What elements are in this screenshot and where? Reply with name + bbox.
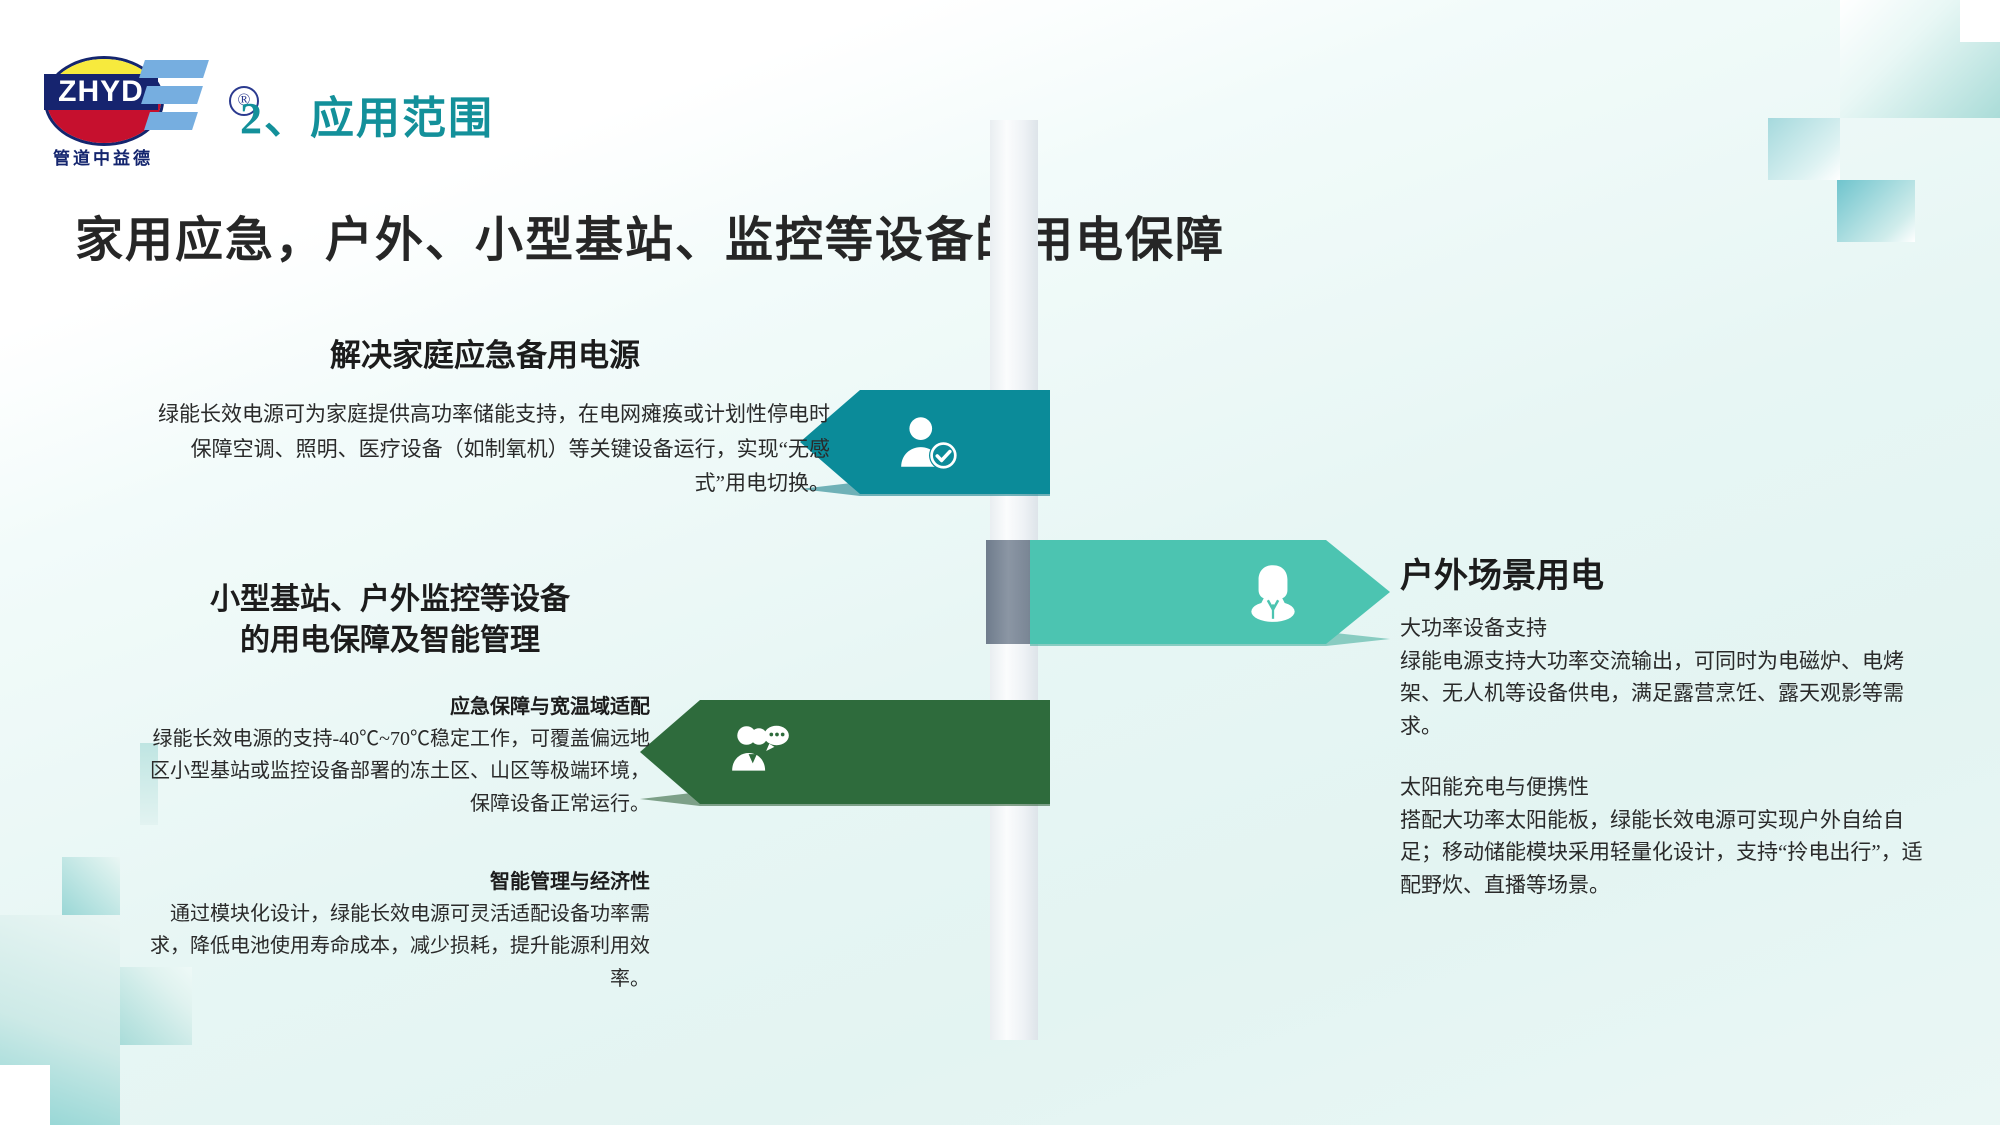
section-title: 2、应用范围 <box>240 82 494 146</box>
block-emergency-temp: 应急保障与宽温域适配 绿能长效电源的支持-40℃~70℃稳定工作，可覆盖偏远地区… <box>140 690 650 820</box>
user-check-icon <box>896 409 962 475</box>
block-smart-economy: 智能管理与经济性 通过模块化设计，绿能长效电源可灵活适配设备功率需求，降低电池使… <box>140 865 650 995</box>
arrow-home-backup[interactable] <box>800 390 1050 494</box>
block-smart-economy-paragraph: 通过模块化设计，绿能长效电源可灵活适配设备功率需求，降低电池使用寿命成本，减少损… <box>140 898 650 995</box>
block-outdoor-heading: 户外场景用电 <box>1400 548 1940 597</box>
logo-company-name-cn: 管道中益德 <box>42 144 164 169</box>
block-home-backup: 解决家庭应急备用电源 绿能长效电源可为家庭提供高功率储能支持，在电网瘫痪或计划性… <box>140 330 830 501</box>
decor-square-bottom-left-1 <box>0 915 120 1125</box>
block-outdoor-spacer <box>1400 742 1940 772</box>
page-title: 家用应急，户外、小型基站、监控等设备的用电保障 <box>0 200 1300 270</box>
block-home-backup-heading: 解决家庭应急备用电源 <box>140 330 830 375</box>
block-outdoor-sub1-heading: 大功率设备支持 <box>1400 613 1940 645</box>
block-smart-economy-heading: 智能管理与经济性 <box>140 865 650 894</box>
block-outdoor: 户外场景用电 大功率设备支持 绿能电源支持大功率交流输出，可同时为电磁炉、电烤架… <box>1400 548 1940 901</box>
arrow-outdoor-body <box>1030 540 1390 644</box>
block-emergency-temp-paragraph: 绿能长效电源的支持-40℃~70℃稳定工作，可覆盖偏远地区小型基站或监控设备部署… <box>140 723 650 820</box>
logo-wordmark: ZHYD <box>44 74 158 110</box>
block-home-backup-paragraph: 绿能长效电源可为家庭提供高功率储能支持，在电网瘫痪或计划性停电时保障空调、照明、… <box>140 397 830 501</box>
block-outdoor-sub2-heading: 太阳能充电与便携性 <box>1400 772 1940 804</box>
people-chat-icon <box>728 719 794 785</box>
logo-stripe-1 <box>139 60 209 78</box>
arrow-outdoor[interactable] <box>1030 540 1390 644</box>
block-outdoor-sub2-paragraph: 搭配大功率太阳能板，绿能长效电源可实现户外自给自足；移动储能模块采用轻量化设计，… <box>1400 804 1940 902</box>
block-base-station-heading: 小型基站、户外监控等设备 的用电保障及智能管理 <box>140 580 640 661</box>
block-base-station-heading-line2: 的用电保障及智能管理 <box>140 621 640 662</box>
decor-square-bottom-left-3 <box>62 857 120 915</box>
arrow-base-station[interactable] <box>640 700 1050 804</box>
person-icon <box>1240 559 1306 625</box>
arrow-base-station-body <box>640 700 1050 804</box>
logo-stripe-3 <box>144 112 198 130</box>
company-logo: ZHYD ® 管道中益德 <box>44 48 204 163</box>
decor-square-bottom-left-notch <box>0 1065 50 1125</box>
block-emergency-temp-heading: 应急保障与宽温域适配 <box>140 690 650 719</box>
block-base-station-heading-line1: 小型基站、户外监控等设备 <box>140 580 640 621</box>
logo-stripe-2 <box>141 86 203 104</box>
block-outdoor-sub1-paragraph: 绿能电源支持大功率交流输出，可同时为电磁炉、电烤架、无人机等设备供电，满足露营烹… <box>1400 645 1940 743</box>
slide-canvas: ZHYD ® 管道中益德 2、应用范围 家用应急，户外、小型基站、监控等设备的用… <box>0 0 2000 1125</box>
